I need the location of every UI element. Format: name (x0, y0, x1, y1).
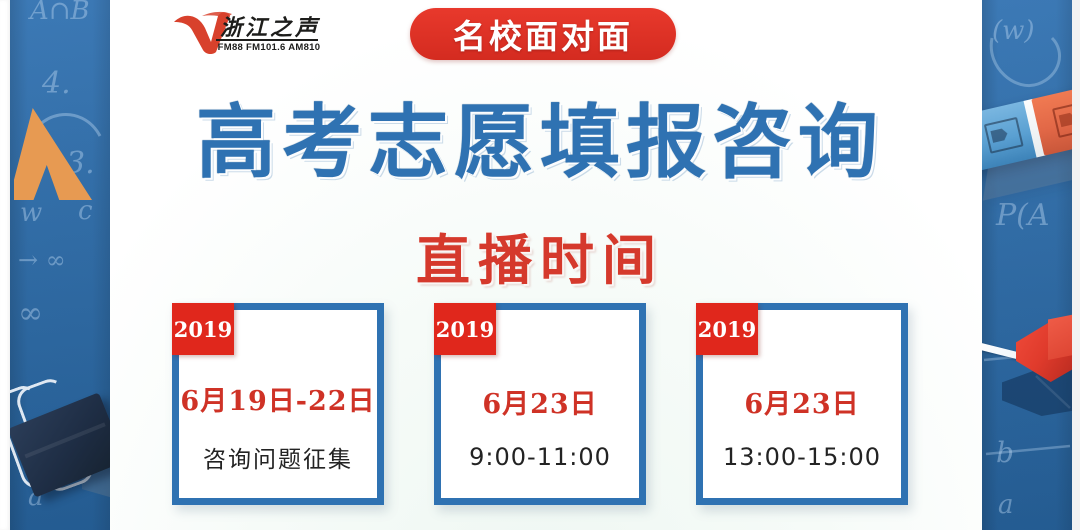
year-badge-label: 2019 (174, 317, 232, 342)
page-title: 高考志愿填报咨询 (0, 78, 1080, 194)
schedule-detail: 9:00-11:00 (469, 443, 611, 471)
year-badge-label: 2019 (436, 317, 494, 342)
year-badge: 2019 (434, 303, 496, 355)
schedule-card: 2019 6月19日-22日 咨询问题征集 (172, 303, 384, 505)
year-badge: 2019 (696, 303, 758, 355)
schedule-card-list: 2019 6月19日-22日 咨询问题征集 2019 6月23日 9:00-11… (0, 303, 1080, 509)
schedule-date: 6月23日 (482, 382, 597, 421)
schedule-card-body: 6月23日 13:00-15:00 (703, 355, 901, 498)
section-subtitle: 直播时间 (0, 216, 1080, 295)
year-badge: 2019 (172, 303, 234, 355)
program-name-badge-label: 名校面对面 (453, 10, 633, 58)
year-badge-label: 2019 (698, 317, 756, 342)
section-subtitle-text: 直播时间 (416, 228, 664, 292)
station-frequencies: FM88 FM101.6 AM810 (216, 42, 322, 53)
logo-rule (216, 39, 318, 41)
schedule-card: 2019 6月23日 13:00-15:00 (696, 303, 908, 505)
schedule-card-body: 6月19日-22日 咨询问题征集 (179, 355, 377, 498)
station-logo: 浙江之声 FM88 FM101.6 AM810 (172, 6, 322, 64)
station-name-cn: 浙江之声 (220, 10, 320, 42)
schedule-card: 2019 6月23日 9:00-11:00 (434, 303, 646, 505)
poster-canvas: A∩B 4. 3. w c → ∞ ∞ a (w) P(A b a (0, 0, 1080, 530)
schedule-card-body: 6月23日 9:00-11:00 (441, 355, 639, 498)
program-name-badge: 名校面对面 (410, 8, 676, 60)
schedule-date: 6月19日-22日 (180, 379, 375, 418)
schedule-detail: 13:00-15:00 (723, 443, 881, 471)
schedule-detail: 咨询问题征集 (203, 440, 353, 474)
page-title-text: 高考志愿填报咨询 (196, 96, 884, 189)
schedule-date: 6月23日 (744, 382, 859, 421)
